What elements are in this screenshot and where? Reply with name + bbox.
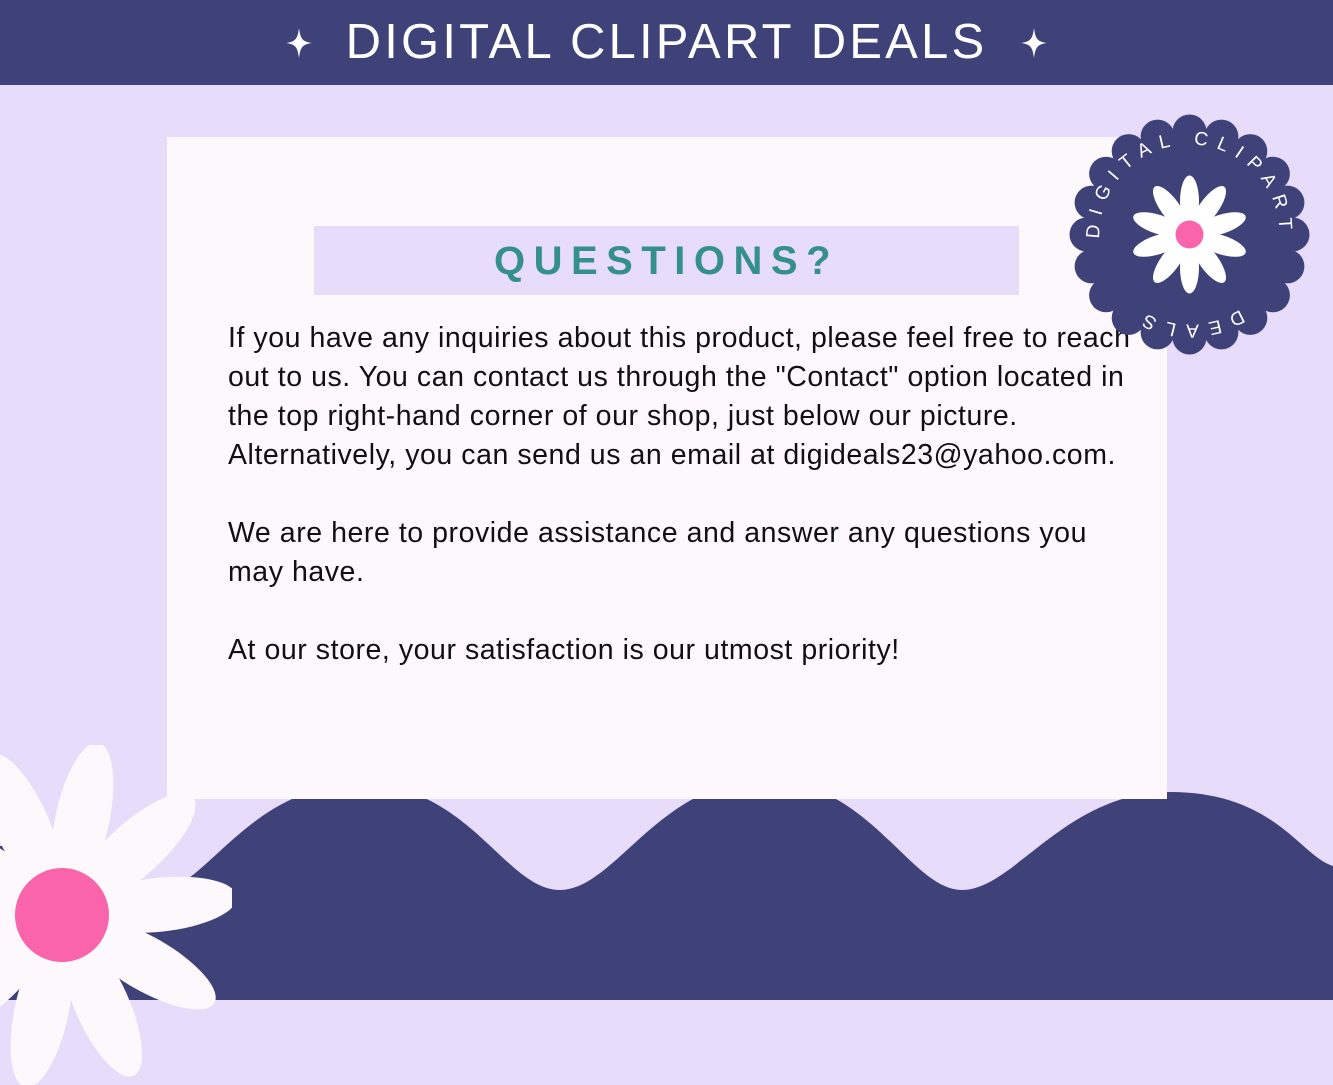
sparkle-icon (286, 28, 312, 58)
sparkle-icon (1021, 28, 1047, 58)
daisy-center (1176, 221, 1204, 249)
header-banner: DIGITAL CLIPART DEALS (0, 0, 1333, 85)
paragraph-3: At our store, your satisfaction is our u… (228, 631, 1140, 670)
brand-badge: DIGITAL CLIPART DEALS (1073, 118, 1306, 351)
page-title: QUESTIONS? (494, 241, 839, 281)
paragraph-1: If you have any inquiries about this pro… (228, 319, 1140, 475)
body-copy: If you have any inquiries about this pro… (228, 319, 1140, 670)
corner-daisy-flower-icon (0, 745, 232, 1085)
header-title: DIGITAL CLIPART DEALS (346, 18, 988, 67)
section-title-band: QUESTIONS? (314, 226, 1019, 295)
paragraph-2: We are here to provide assistance and an… (228, 514, 1140, 592)
content-card: QUESTIONS? If you have any inquiries abo… (167, 137, 1167, 799)
